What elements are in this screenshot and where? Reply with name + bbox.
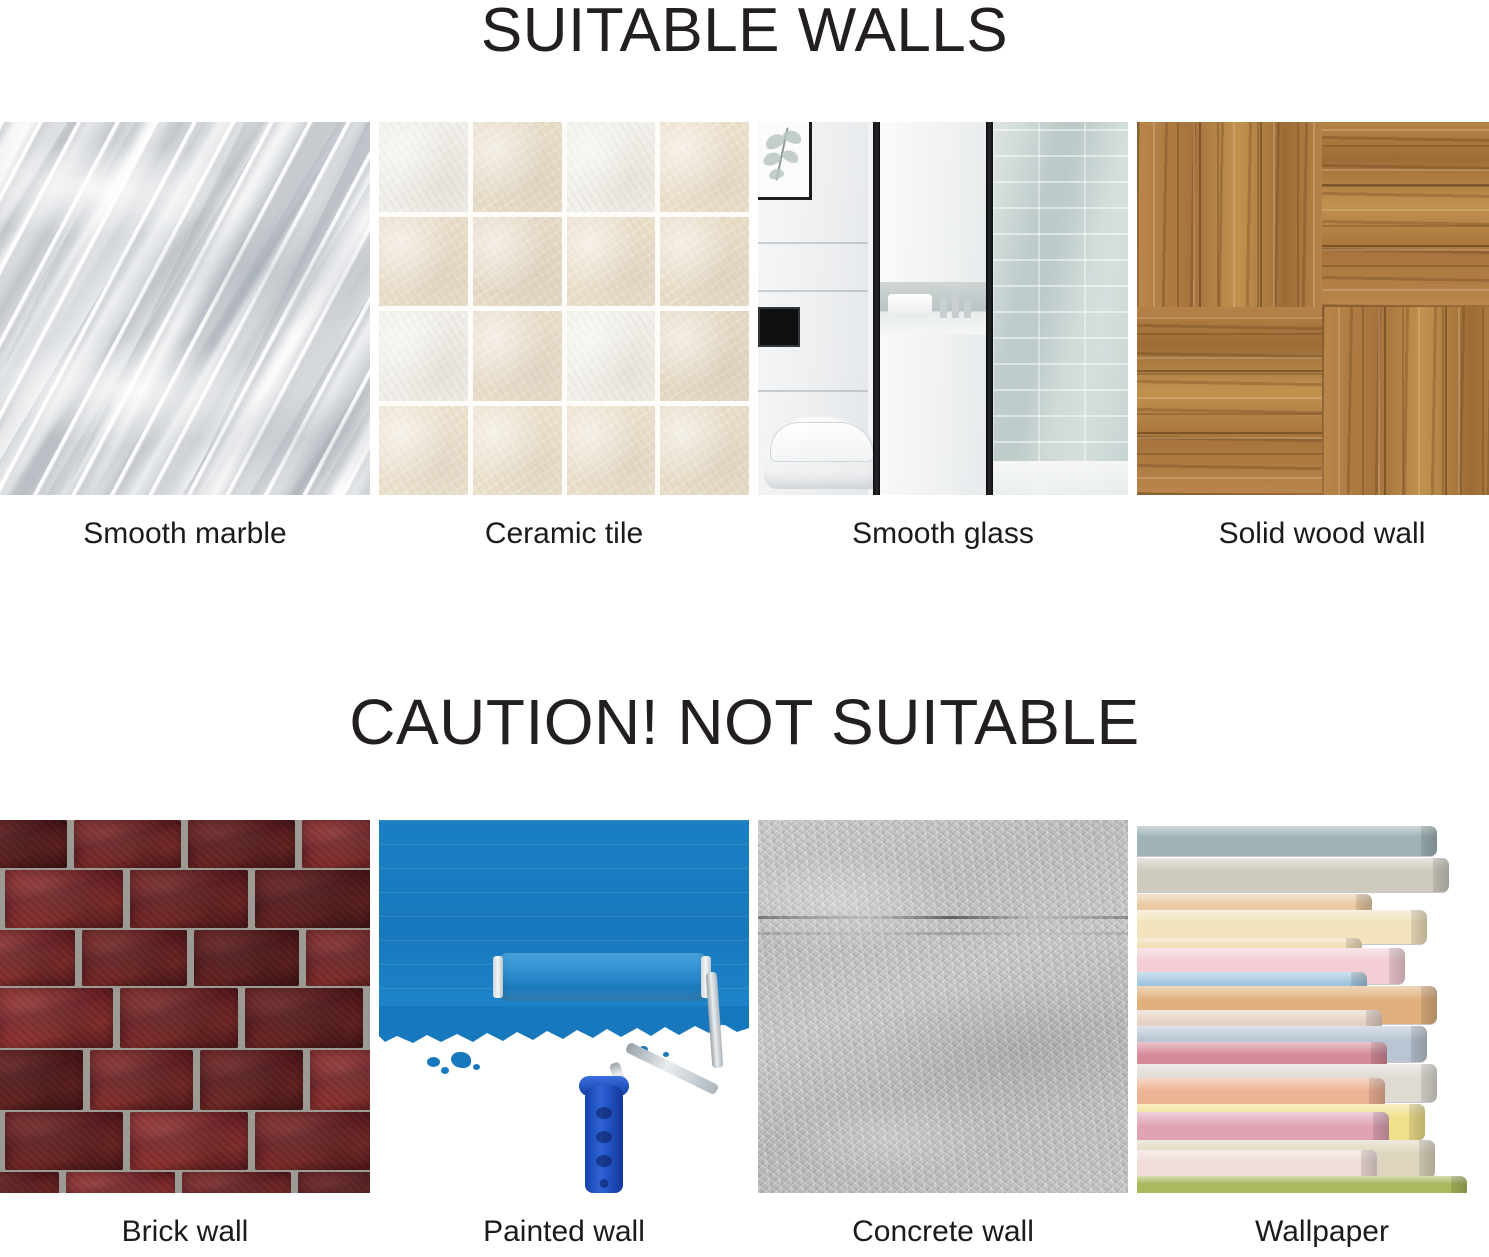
brick: [306, 930, 370, 986]
brick: [182, 1172, 291, 1193]
concrete-texture-icon: [758, 820, 1128, 1193]
towel-icon: [888, 294, 932, 316]
suitable-item-smooth-marble: Smooth marble: [0, 122, 370, 551]
brick: [200, 1050, 303, 1110]
glass-reflection: [992, 122, 1128, 495]
notsuitable-item-concrete-wall: Concrete wall: [758, 820, 1128, 1249]
tile-cell: [567, 217, 656, 307]
tile-cell: [473, 311, 562, 401]
tile-cell: [379, 406, 468, 496]
plank-seam: [1260, 122, 1262, 307]
suitable-item-solid-wood-wall: Solid wood wall: [1137, 122, 1489, 551]
brick: [0, 930, 75, 986]
ceramic-tile-icon: [379, 122, 749, 495]
shower-frame-left: [873, 122, 880, 495]
flush-plate-icon: [758, 307, 800, 347]
brick: [188, 820, 295, 868]
plank-seam: [1199, 122, 1201, 307]
brick-row: [0, 870, 370, 928]
brick: [194, 930, 299, 986]
brick: [0, 820, 67, 868]
brick-row: [0, 1050, 370, 1110]
brick-row: [0, 1172, 370, 1193]
brick: [298, 1172, 370, 1193]
brick-row: [0, 930, 370, 986]
tile-cell: [660, 311, 749, 401]
notsuitable-item-brick-wall: Brick wall: [0, 820, 370, 1249]
brick: [90, 1050, 193, 1110]
caption-wallpaper: Wallpaper: [1137, 1215, 1489, 1249]
shower-frame-right: [986, 122, 993, 495]
tile-cell: [567, 311, 656, 401]
suitable-walls-row: Smooth marble Ceramic tile: [0, 122, 1489, 551]
brick-row: [0, 988, 370, 1048]
wallpaper-roll: [1137, 1176, 1467, 1193]
plank-seam: [1137, 370, 1322, 372]
suitable-item-ceramic-tile: Ceramic tile: [379, 122, 749, 551]
brick: [0, 1050, 83, 1110]
caption-concrete-wall: Concrete wall: [758, 1215, 1128, 1249]
brick: [130, 870, 248, 928]
brick: [0, 988, 113, 1048]
brick: [310, 1050, 370, 1110]
tile-cell: [567, 122, 656, 212]
brick: [82, 930, 187, 986]
brick: [0, 1172, 59, 1193]
tile-cell: [567, 406, 656, 496]
brick: [245, 988, 363, 1048]
tile-cell: [379, 217, 468, 307]
caption-ceramic-tile: Ceramic tile: [379, 517, 749, 551]
brick: [5, 870, 123, 928]
suitable-item-smooth-glass: Smooth glass: [758, 122, 1128, 551]
tile-cell: [379, 122, 468, 212]
caption-painted-wall: Painted wall: [379, 1215, 749, 1249]
wood-plank-block: [1322, 122, 1489, 307]
suitable-walls-heading: SUITABLE WALLS: [0, 0, 1489, 62]
tile-cell: [473, 122, 562, 212]
paint-edge: [379, 1006, 749, 1046]
caption-smooth-marble: Smooth marble: [0, 517, 370, 551]
plank-seam: [1445, 307, 1447, 495]
plank-seam: [1322, 184, 1489, 186]
brick: [255, 870, 370, 928]
wallpaper-rolls-icon: [1137, 820, 1489, 1193]
notsuitable-item-wallpaper: Wallpaper: [1137, 820, 1489, 1249]
roller-sleeve: [499, 953, 707, 1001]
notsuitable-item-painted-wall: Painted wall: [379, 820, 749, 1249]
brick-row: [0, 1112, 370, 1170]
brick-texture-icon: [0, 820, 370, 1193]
brick-row: [0, 820, 370, 868]
not-suitable-walls-row: Brick wall: [0, 820, 1489, 1249]
tile-cell: [660, 406, 749, 496]
brick: [255, 1112, 370, 1170]
plank-seam: [1322, 245, 1489, 247]
roller-handle: [585, 1085, 623, 1193]
wallpaper-roll: [1137, 826, 1437, 856]
brick: [302, 820, 370, 868]
shower-niche: [880, 282, 986, 334]
glass-shower-icon: [758, 122, 1128, 495]
brick: [130, 1112, 248, 1170]
brick: [120, 988, 238, 1048]
tile-cell: [379, 311, 468, 401]
plank-seam: [1137, 432, 1322, 434]
marble-texture-icon: [0, 122, 370, 495]
wood-plank-block: [1322, 307, 1489, 495]
wallpaper-roll: [1137, 858, 1449, 892]
wood-parquet-icon: [1137, 122, 1489, 495]
caption-brick-wall: Brick wall: [0, 1215, 370, 1249]
brick: [74, 820, 181, 868]
tile-cell: [473, 406, 562, 496]
caution-not-suitable-heading: CAUTION! NOT SUITABLE: [0, 690, 1489, 754]
brick: [5, 1112, 123, 1170]
caption-solid-wood-wall: Solid wood wall: [1137, 517, 1489, 551]
plank-seam: [1384, 307, 1386, 495]
tile-cell: [660, 122, 749, 212]
paint-roller-icon: [379, 820, 749, 1193]
brick: [66, 1172, 175, 1193]
tile-cell: [473, 217, 562, 307]
infographic-page: SUITABLE WALLS Smooth marble Ceramic til…: [0, 0, 1489, 1257]
wood-plank-block: [1137, 307, 1322, 495]
wood-plank-block: [1137, 122, 1322, 307]
tile-cell: [660, 217, 749, 307]
caption-smooth-glass: Smooth glass: [758, 517, 1128, 551]
framed-botanical-print-icon: [758, 122, 812, 200]
